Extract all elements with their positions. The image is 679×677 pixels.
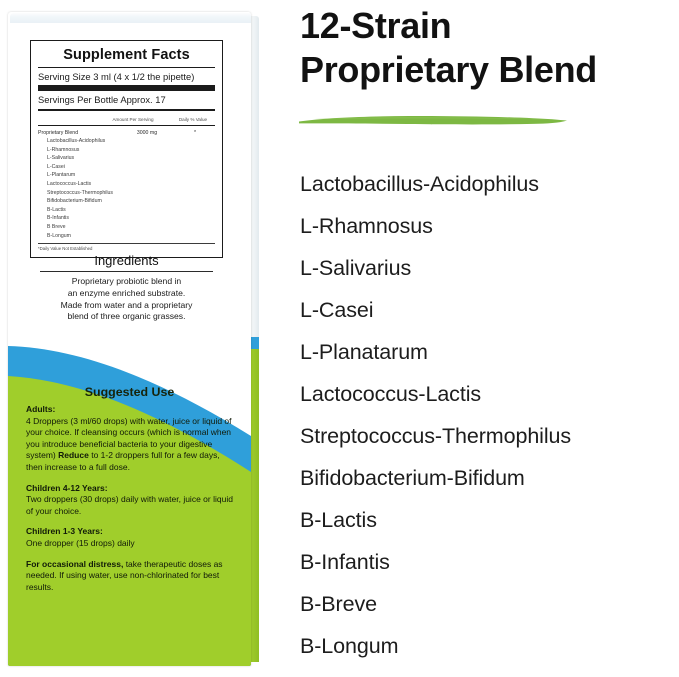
brush-stroke-underline [297,111,569,127]
supplement-facts-column-headers: Amount Per Serving Daily % Value [38,117,215,122]
suggested-use-section: Suggested Use Adults:4 Droppers (3 ml/60… [8,332,251,666]
ingredients-text: Proprietary probiotic blend inan enzyme … [30,276,223,322]
headline-line-2: Proprietary Blend [300,48,679,92]
suggested-use-title: Suggested Use [8,385,251,399]
list-item: Lactococcus-Lactis [300,373,679,415]
strain-name: L-Rhamnosus [38,146,119,155]
carton-top-edge [10,12,251,23]
strain-name: B Breve [38,223,119,232]
list-item: L-Salivarius [300,247,679,289]
table-row: Lactobacillus-Acidophilus [38,137,215,146]
ingredients-title: Ingredients [30,253,223,269]
table-row: L-Salivarius [38,154,215,163]
list-item: L-Rhamnosus [300,205,679,247]
amount-per-serving-header: Amount Per Serving [105,117,161,122]
table-row: B Breve [38,223,215,232]
strain-name: L-Salivarius [38,154,119,163]
table-row: B-Infantis [38,214,215,223]
supplement-facts-title: Supplement Facts [38,47,215,63]
list-item: Streptococcus-Thermophilus [300,415,679,457]
ingredients-line: an enzyme enriched substrate. [30,288,223,300]
product-box: Supplement Facts Serving Size 3 ml (4 x … [8,4,259,666]
strain-name: Lactococcus-Lactis [38,180,119,189]
table-row: B-Longum [38,232,215,241]
page-title: 12-Strain Proprietary Blend [300,4,679,92]
supplement-facts-strain-rows: Lactobacillus-AcidophilusL-RhamnosusL-Sa… [38,137,215,240]
suggested-use-block: Adults:4 Droppers (3 ml/60 drops) with w… [26,404,238,474]
suggested-use-body: 4 Droppers (3 ml/60 drops) with water, j… [26,416,238,474]
suggested-use-block: For occasional distress, take therapeuti… [26,559,238,594]
proprietary-blend-daily-value: * [175,129,215,138]
list-item: B-Infantis [300,541,679,583]
divider [38,243,215,244]
strain-name: B-Lactis [38,206,119,215]
ingredients-line: blend of three organic grasses. [30,311,223,323]
table-row: Proprietary Blend 3000 mg * [38,129,215,138]
strain-name: Lactobacillus-Acidophilus [38,137,119,146]
supplement-facts-rows: Proprietary Blend 3000 mg * Lactobacillu… [38,129,215,241]
list-item: B-Longum [300,625,679,667]
suggested-use-block: Children 4-12 Years:Two droppers (30 dro… [26,483,238,518]
suggested-use-body: Two droppers (30 drops) daily with water… [26,494,238,517]
divider [38,67,215,68]
strain-name: B-Infantis [38,214,119,223]
table-row: Bifidobacterium-Bifidum [38,197,215,206]
strain-name: Streptococcus-Thermophilus [38,189,119,198]
strain-name: L-Casei [38,163,119,172]
suggested-use-body: For occasional distress, take therapeuti… [26,559,238,594]
list-item: B-Breve [300,583,679,625]
strain-name: L-Plantarum [38,171,119,180]
table-row: Lactococcus-Lactis [38,180,215,189]
suggested-use-text: Adults:4 Droppers (3 ml/60 drops) with w… [26,404,238,593]
carton-spine [251,16,259,662]
list-item: Lactobacillus-Acidophilus [300,163,679,205]
headline-line-1: 12-Strain [300,4,679,48]
table-row: Streptococcus-Thermophilus [38,189,215,198]
list-item: B-Lactis [300,499,679,541]
suggested-use-heading: Adults: [26,404,238,416]
right-info-panel: 12-Strain Proprietary Blend Lactobacillu… [297,0,679,677]
proprietary-blend-amount: 3000 mg [119,129,175,138]
ingredients-line: Made from water and a proprietary [30,300,223,312]
serving-size-line: Serving Size 3 ml (4 x 1/2 the pipette) [38,71,215,83]
divider [40,271,213,272]
ingredients-line: Proprietary probiotic blend in [30,276,223,288]
suggested-use-heading: Children 1-3 Years: [26,526,238,538]
strain-name: Bifidobacterium-Bifidum [38,197,119,206]
carton-spine-green-band [251,349,259,662]
strain-name: B-Longum [38,232,119,241]
supplement-facts-panel: Supplement Facts Serving Size 3 ml (4 x … [30,40,223,258]
list-item: L-Planatarum [300,331,679,373]
table-row: B-Lactis [38,206,215,215]
table-row: L-Rhamnosus [38,146,215,155]
suggested-use-heading: Children 4-12 Years: [26,483,238,495]
suggested-use-block: Children 1-3 Years:One dropper (15 drops… [26,526,238,549]
divider-thick [38,85,215,91]
table-row: L-Casei [38,163,215,172]
proprietary-blend-label: Proprietary Blend [38,129,119,138]
daily-value-footnote: *Daily Value Not Established [38,246,215,252]
strain-list: Lactobacillus-AcidophilusL-RhamnosusL-Sa… [300,163,679,667]
list-item: L-Casei [300,289,679,331]
ingredients-section: Ingredients Proprietary probiotic blend … [30,253,223,323]
servings-per-bottle-line: Servings Per Bottle Approx. 17 [38,94,215,106]
daily-value-header: Daily % Value [173,117,213,122]
carton-front-face: Supplement Facts Serving Size 3 ml (4 x … [8,12,251,666]
divider [38,125,215,126]
divider-medium [38,109,215,111]
suggested-use-body: One dropper (15 drops) daily [26,538,238,550]
list-item: Bifidobacterium-Bifidum [300,457,679,499]
table-row: L-Plantarum [38,171,215,180]
